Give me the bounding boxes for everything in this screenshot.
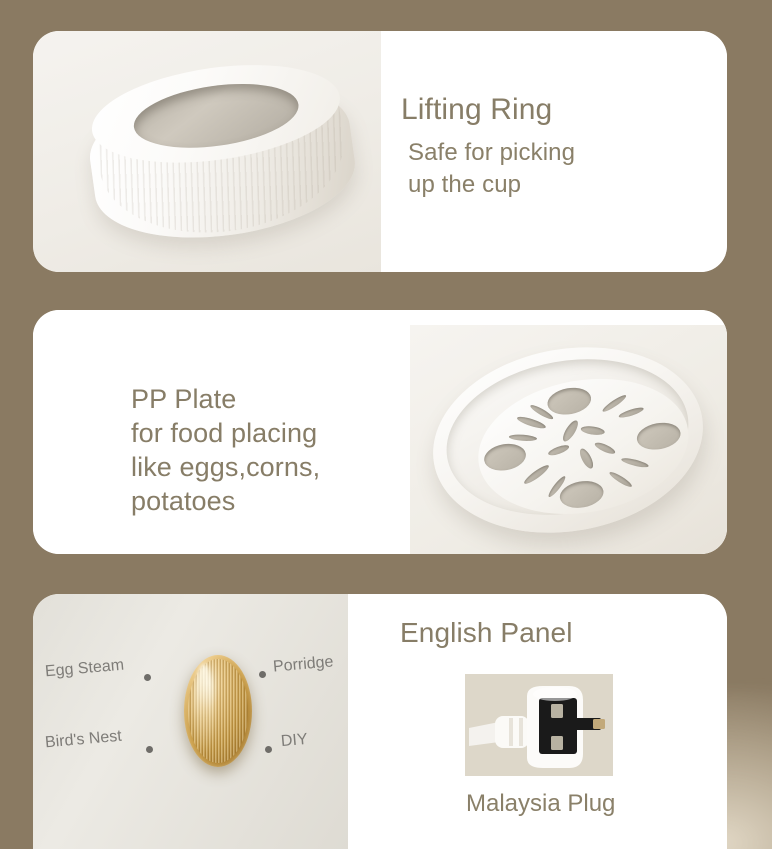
card-lifting-ring: Lifting Ring Safe for picking up the cup (33, 31, 727, 272)
malaysia-plug-photo (465, 674, 613, 776)
pp-plate-text-pane: PP Plate for food placing like eggs,corn… (33, 310, 410, 554)
product-infographic: Lifting Ring Safe for picking up the cup… (0, 0, 772, 849)
panel-label-egg-steam: Egg Steam (44, 657, 124, 682)
plate-slot (621, 456, 650, 469)
plate-center-slot (560, 418, 580, 443)
lifting-ring-description: Safe for picking up the cup (408, 137, 575, 201)
pp-plate-photo-inner (410, 325, 727, 554)
plate-slot (618, 406, 645, 420)
plate-hole (635, 420, 683, 453)
panel-label-porridge: Porridge (272, 653, 334, 676)
plate-perforated-face (467, 363, 699, 530)
plate-rim (434, 341, 701, 533)
plate-center-slot (594, 441, 617, 456)
panel-dot-porridge (259, 671, 266, 678)
plate-slot (608, 470, 633, 489)
panel-dot-egg-steam (144, 674, 151, 681)
plate-slot (516, 415, 547, 431)
english-panel-text-pane: English Panel Malaysia Plug (348, 594, 727, 849)
plate-disc-shape (418, 327, 717, 553)
control-panel-photo: Egg Steam Bird's Nest Porridge DIY (33, 594, 348, 849)
plate-center-slot (577, 447, 595, 471)
plate-hole (545, 385, 593, 418)
knob-highlight (194, 664, 214, 754)
lifting-ring-illustration (80, 49, 370, 265)
panel-dot-birds-nest (146, 746, 153, 753)
pp-plate-text: PP Plate for food placing like eggs,corn… (131, 382, 320, 518)
card-english-panel: Egg Steam Bird's Nest Porridge DIY Engli… (33, 594, 727, 849)
panel-dot-diy (265, 746, 272, 753)
plate-center-slot (580, 425, 605, 436)
plate-hole (482, 441, 528, 474)
plate-slot (601, 393, 628, 414)
plate-hole (558, 478, 606, 511)
plate-slot (509, 434, 537, 442)
lifting-ring-title: Lifting Ring (401, 93, 552, 127)
rotary-knob[interactable] (184, 655, 252, 767)
panel-label-birds-nest: Bird's Nest (44, 728, 122, 753)
plug-illustration (465, 674, 613, 776)
plate-center-slot (547, 443, 570, 457)
card-pp-plate: PP Plate for food placing like eggs,corn… (33, 310, 727, 554)
lifting-ring-text-pane: Lifting Ring Safe for picking up the cup (381, 31, 727, 272)
panel-label-diy: DIY (280, 731, 308, 751)
pp-plate-photo (410, 310, 727, 554)
lifting-ring-photo (33, 31, 381, 272)
plug-caption: Malaysia Plug (466, 790, 615, 818)
plate-slot (522, 463, 550, 486)
english-panel-title: English Panel (400, 617, 573, 649)
